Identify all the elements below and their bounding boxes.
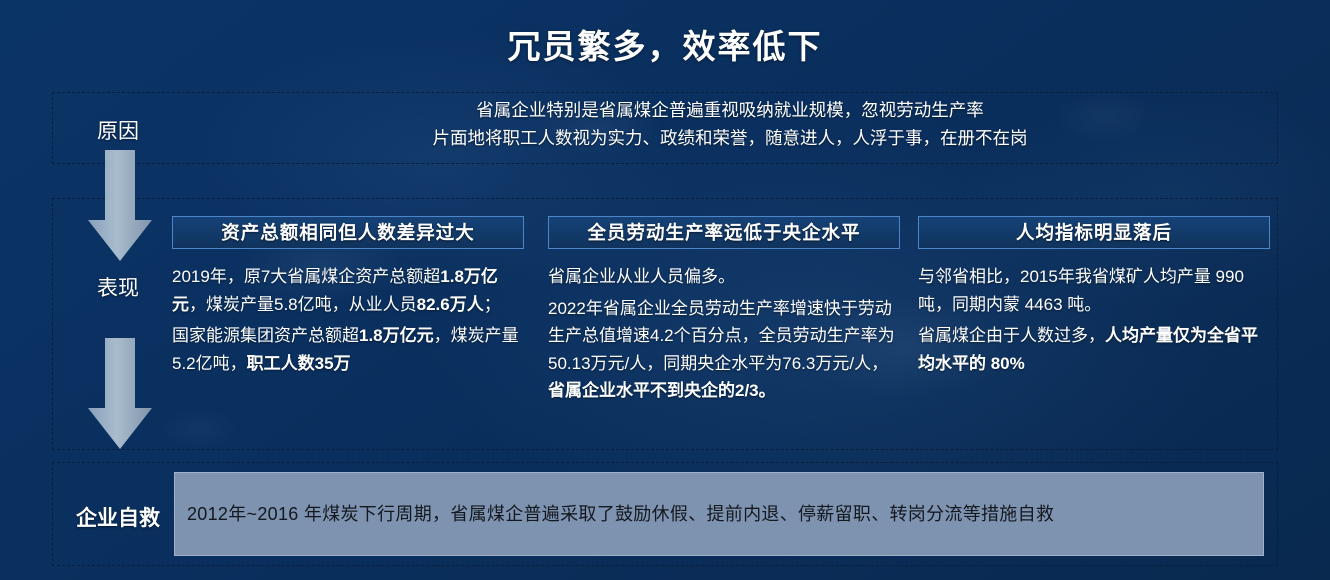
column-header: 资产总额相同但人数差异过大 (172, 216, 524, 249)
column-body: 与邻省相比，2015年我省煤矿人均产量 990吨，同期内蒙 4463 吨。省属煤… (918, 263, 1270, 377)
page-title: 冗员繁多，效率低下 (0, 20, 1330, 68)
column-header: 人均指标明显落后 (918, 216, 1270, 249)
body-text: 2022年省属企业全员劳动生产率增速快于劳动生产总值增速4.2个百分点，全员劳动… (548, 299, 895, 373)
column-header: 全员劳动生产率远低于央企水平 (548, 216, 900, 249)
rail-label-rescue: 企业自救 (58, 502, 178, 532)
performance-column-3: 人均指标明显落后 与邻省相比，2015年我省煤矿人均产量 990吨，同期内蒙 4… (918, 216, 1270, 381)
cause-line-1: 省属企业特别是省属煤企普遍重视吸纳就业规模，忽视劳动生产率 (200, 96, 1260, 124)
performance-column-1: 资产总额相同但人数差异过大 2019年，原7大省属煤企资产总额超1.8万亿元，煤… (172, 216, 524, 381)
body-text: 省属煤企由于人数过多， (918, 326, 1105, 345)
body-text: 2019年，原7大省属煤企资产总额超 (172, 267, 440, 286)
column-paragraph: 省属企业从业人员偏多。 (548, 263, 900, 291)
cause-text: 省属企业特别是省属煤企普遍重视吸纳就业规模，忽视劳动生产率 片面地将职工人数视为… (200, 96, 1260, 153)
body-text: 与邻省相比，2015年我省煤矿人均产量 990吨，同期内蒙 4463 吨。 (918, 267, 1244, 314)
column-body: 2019年，原7大省属煤企资产总额超1.8万亿元，煤炭产量5.8亿吨，从业人员8… (172, 263, 524, 377)
performance-column-2: 全员劳动生产率远低于央企水平 省属企业从业人员偏多。2022年省属企业全员劳动生… (548, 216, 900, 409)
body-text: 国家能源集团资产总额超 (172, 326, 359, 345)
slide-canvas: 冗员繁多，效率低下 原因 表现 企业自救 省属企业特别是省属煤企普遍重视吸纳就业… (0, 0, 1330, 580)
column-paragraph: 国家能源集团资产总额超1.8万亿元，煤炭产量5.2亿吨，职工人数35万 (172, 322, 524, 377)
emphasis-text: 82.6万人 (417, 295, 484, 314)
column-paragraph: 省属煤企由于人数过多，人均产量仅为全省平均水平的 80% (918, 322, 1270, 377)
column-paragraph: 与邻省相比，2015年我省煤矿人均产量 990吨，同期内蒙 4463 吨。 (918, 263, 1270, 318)
rail-label-performance: 表现 (58, 272, 178, 302)
rail-label-cause: 原因 (58, 115, 178, 145)
emphasis-text: 省属企业水平不到央企的2/3。 (548, 381, 776, 400)
body-text: 省属企业从业人员偏多。 (548, 267, 735, 286)
column-paragraph: 2019年，原7大省属煤企资产总额超1.8万亿元，煤炭产量5.8亿吨，从业人员8… (172, 263, 524, 318)
column-body: 省属企业从业人员偏多。2022年省属企业全员劳动生产率增速快于劳动生产总值增速4… (548, 263, 900, 405)
down-arrow-icon (86, 150, 154, 262)
body-text: ，煤炭产量5.8亿吨，从业人员 (189, 295, 417, 314)
cause-line-2: 片面地将职工人数视为实力、政绩和荣誉，随意进人，人浮于事，在册不在岗 (200, 124, 1260, 152)
rescue-text: 2012年~2016 年煤炭下行周期，省属煤企普遍采取了鼓励休假、提前内退、停薪… (187, 501, 1054, 528)
rescue-box: 2012年~2016 年煤炭下行周期，省属煤企普遍采取了鼓励休假、提前内退、停薪… (174, 472, 1264, 556)
column-paragraph: 2022年省属企业全员劳动生产率增速快于劳动生产总值增速4.2个百分点，全员劳动… (548, 295, 900, 405)
down-arrow-icon (86, 338, 154, 450)
emphasis-text: 职工人数35万 (247, 354, 351, 373)
emphasis-text: 1.8万亿元 (359, 326, 434, 345)
body-text: ； (484, 295, 501, 314)
